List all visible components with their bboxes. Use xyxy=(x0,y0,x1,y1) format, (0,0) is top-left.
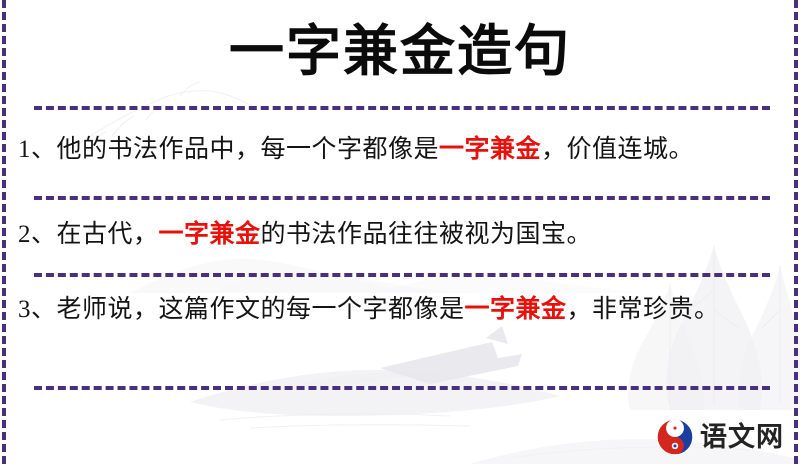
divider-after-sentence-2 xyxy=(34,273,770,277)
sentence-3-keyword: 一字兼金 xyxy=(465,296,567,323)
sentence-1-keyword: 一字兼金 xyxy=(439,136,541,163)
sentence-1-text-after: ，价值连城。 xyxy=(541,136,694,163)
sentence-3-text-before: 老师说，这篇作文的每一个字都像是 xyxy=(57,296,465,323)
yin-yang-logo-icon xyxy=(656,418,694,456)
sentence-2-text-after: 的书法作品往往被视为国宝。 xyxy=(261,221,593,248)
example-sentence-1: 1、他的书法作品中，每一个字都像是一字兼金，价值连城。 xyxy=(18,128,776,172)
divider-after-sentence-3 xyxy=(34,386,770,390)
site-logo[interactable]: 语文网 xyxy=(656,418,784,456)
sentence-1-text-before: 他的书法作品中，每一个字都像是 xyxy=(57,136,440,163)
sentence-3-text-after: ，非常珍贵。 xyxy=(567,296,720,323)
sentence-2-text-before: 在古代， xyxy=(57,221,159,248)
sentence-1-number: 1、 xyxy=(18,136,57,163)
page-title: 一字兼金造句 xyxy=(0,22,800,80)
slide-canvas: 一字兼金造句 1、他的书法作品中，每一个字都像是一字兼金，价值连城。 2、在古代… xyxy=(0,0,800,464)
divider-below-title xyxy=(34,106,770,110)
sentence-2-keyword: 一字兼金 xyxy=(159,221,261,248)
sentence-2-number: 2、 xyxy=(18,221,57,248)
site-logo-text: 语文网 xyxy=(700,424,784,451)
divider-after-sentence-1 xyxy=(34,196,770,200)
sentence-3-number: 3、 xyxy=(18,296,57,323)
example-sentence-3: 3、老师说，这篇作文的每一个字都像是一字兼金，非常珍贵。 xyxy=(18,288,776,332)
example-sentence-2: 2、在古代，一字兼金的书法作品往往被视为国宝。 xyxy=(18,213,776,257)
watermark-boat xyxy=(130,324,600,434)
